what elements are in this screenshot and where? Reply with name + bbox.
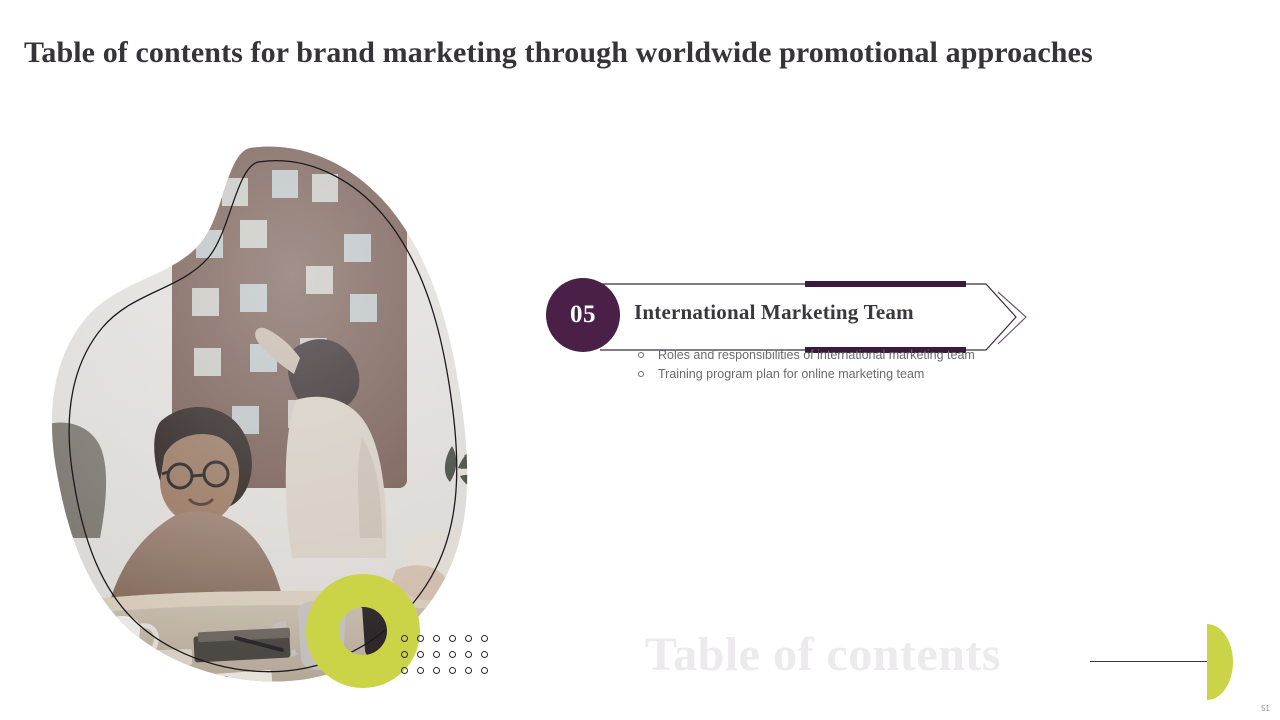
bullet-item[interactable]: Training program plan for online marketi… xyxy=(632,365,975,384)
grid-dot xyxy=(481,635,488,642)
grid-dot xyxy=(401,635,408,642)
grid-dot xyxy=(481,651,488,658)
watermark-rule xyxy=(1090,661,1212,662)
entry-number-badge: 05 xyxy=(546,278,620,352)
page-title: Table of contents for brand marketing th… xyxy=(24,34,1254,72)
grid-dot xyxy=(481,667,488,674)
bullet-text: Roles and responsibilities of internatio… xyxy=(658,348,975,362)
blob-photo-image xyxy=(44,138,494,683)
grid-dot xyxy=(433,667,440,674)
circle-bullet-icon xyxy=(638,371,644,377)
circle-bullet-icon xyxy=(638,352,644,358)
grid-dot xyxy=(433,635,440,642)
bullet-text: Training program plan for online marketi… xyxy=(658,367,924,381)
grid-dot xyxy=(465,651,472,658)
slide-canvas: Table of contents for brand marketing th… xyxy=(0,0,1280,720)
grid-dot xyxy=(417,667,424,674)
toc-entry-05[interactable]: 05 International Marketing Team Roles an… xyxy=(546,272,1066,392)
grid-dot xyxy=(449,635,456,642)
grid-dot xyxy=(449,651,456,658)
page-number: 51 xyxy=(1261,704,1270,713)
grid-dot xyxy=(465,635,472,642)
grid-dot xyxy=(401,667,408,674)
watermark-title: Table of contents xyxy=(645,627,1001,683)
bullet-item[interactable]: Roles and responsibilities of internatio… xyxy=(632,346,975,365)
grid-dot xyxy=(417,651,424,658)
grid-dot xyxy=(417,635,424,642)
grid-dot xyxy=(401,651,408,658)
photo-blob xyxy=(44,138,494,683)
grid-dot xyxy=(465,667,472,674)
dot-grid-decor xyxy=(396,630,492,678)
grid-dot xyxy=(433,651,440,658)
green-half-disc-decor xyxy=(1207,624,1233,700)
entry-bullet-list: Roles and responsibilities of internatio… xyxy=(632,346,975,384)
entry-heading: International Marketing Team xyxy=(634,300,914,325)
grid-dot xyxy=(449,667,456,674)
